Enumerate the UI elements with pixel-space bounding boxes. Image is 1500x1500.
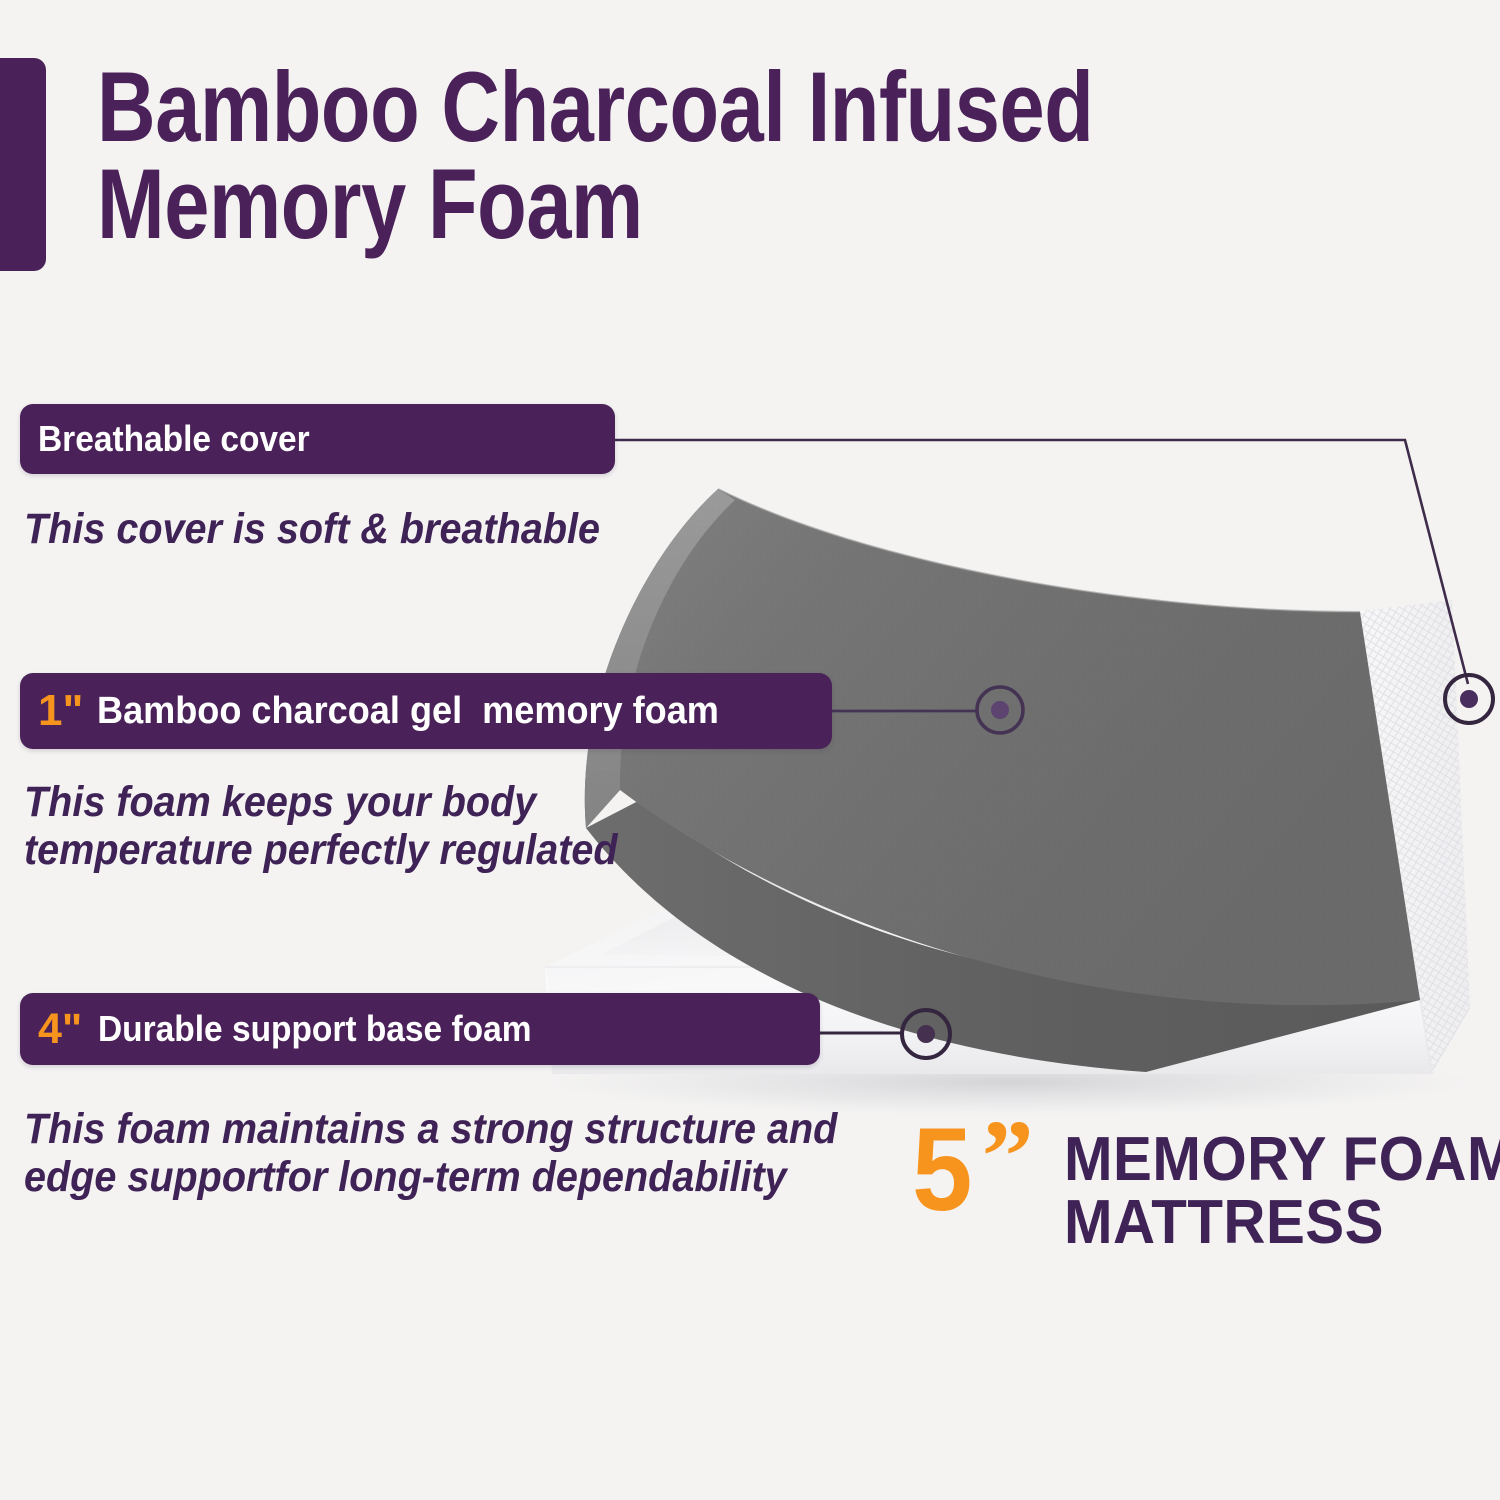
product-size-words: MEMORY FOAM MATTRESS [1064,1128,1500,1254]
marker-breathable-cover [1445,675,1493,723]
callout-pill-support-base-foam[interactable]: 4" Durable support base foam [20,993,820,1065]
infographic-canvas: Bamboo Charcoal Infused Memory Foam [0,0,1500,1500]
callout-description-bamboo-charcoal-gel: This foam keeps your body temperature pe… [24,778,668,874]
callout-pill-bamboo-charcoal-gel[interactable]: 1" Bamboo charcoal gel memory foam [20,673,832,749]
product-size-number: 5 [912,1122,972,1219]
callout-measurement-bamboo-charcoal-gel: 1" [38,686,83,736]
callout-label-bamboo-charcoal-gel: Bamboo charcoal gel memory foam [97,690,719,733]
product-size-block: 5 ” MEMORY FOAM MATTRESS [912,1122,1500,1254]
marker-support-base [902,1010,950,1058]
callout-leader-lines [0,0,1500,1500]
inch-quote-icon: ” [982,1120,1034,1195]
callout-pill-breathable-cover[interactable]: Breathable cover [20,404,615,474]
leader-line-breathable-cover [615,440,1468,684]
product-size-words-line-2: MATTRESS [1064,1191,1500,1254]
marker-charcoal-gel [977,687,1023,733]
callout-description-support-base-foam: This foam maintains a strong structure a… [24,1105,852,1201]
callout-label-support-base-foam: Durable support base foam [98,1008,531,1050]
callout-measurement-support-base-foam: 4" [38,1005,82,1054]
product-size-words-line-1: MEMORY FOAM [1064,1128,1500,1191]
callout-label-breathable-cover: Breathable cover [38,418,310,460]
callout-description-breathable-cover: This cover is soft & breathable [24,505,723,553]
